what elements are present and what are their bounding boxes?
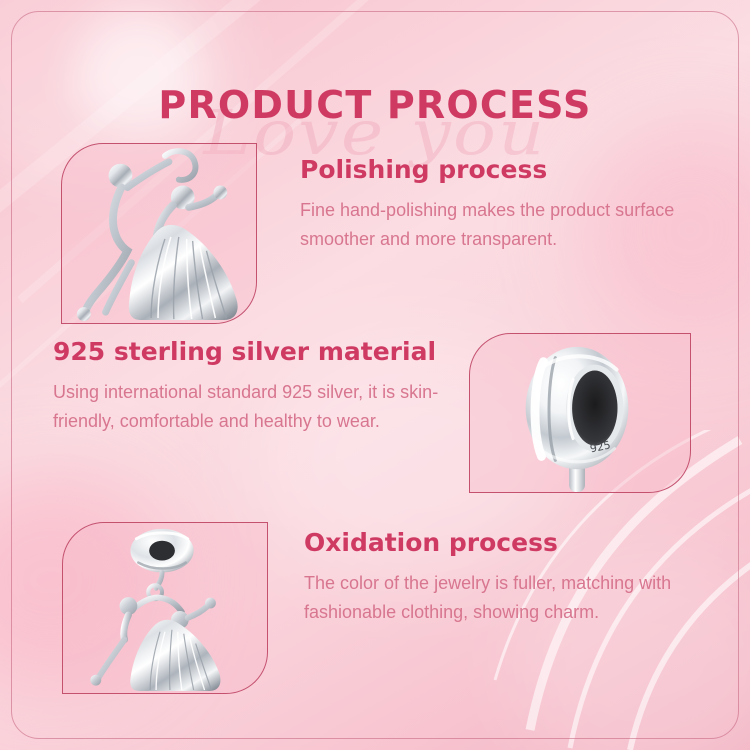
text-block-polishing: Polishing process Fine hand-polishing ma… [300, 143, 700, 254]
section-oxidation: Oxidation process The color of the jewel… [0, 522, 750, 694]
section-material: 925 sterling silver material Using inter… [0, 333, 750, 493]
image-frame-polishing [61, 143, 257, 324]
image-frame-material: 925 [469, 333, 691, 493]
section-heading-polishing: Polishing process [300, 156, 700, 184]
section-body-material: Using international standard 925 silver,… [53, 378, 453, 436]
dangle-charm-photo [63, 523, 267, 693]
image-frame-oxidation [62, 522, 268, 694]
silver-bead-925-stamp-photo: 925 [470, 334, 690, 492]
section-heading-material: 925 sterling silver material [53, 338, 453, 366]
text-block-material: 925 sterling silver material Using inter… [53, 333, 453, 436]
section-body-oxidation: The color of the jewelry is fuller, matc… [304, 569, 704, 627]
dancing-couple-charm-photo [62, 144, 256, 323]
section-heading-oxidation: Oxidation process [304, 529, 704, 557]
page-title: PRODUCT PROCESS [0, 83, 750, 127]
text-block-oxidation: Oxidation process The color of the jewel… [304, 522, 704, 627]
section-body-polishing: Fine hand-polishing makes the product su… [300, 196, 700, 254]
product-process-infographic: Love you PRODUCT PROCESS [0, 0, 750, 750]
section-polishing: Polishing process Fine hand-polishing ma… [0, 143, 750, 324]
